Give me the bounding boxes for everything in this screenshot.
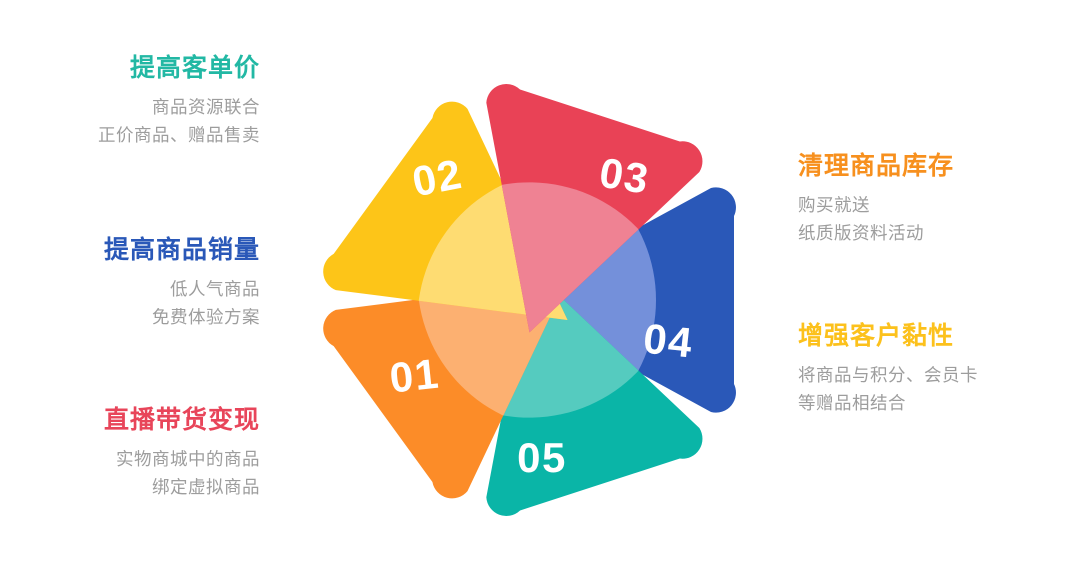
block-title-01: 提高商品销量 bbox=[0, 236, 260, 266]
block-line1-01: 低人气商品 bbox=[0, 275, 260, 303]
petal-number-05: 05 bbox=[517, 434, 567, 481]
petal-number-04: 04 bbox=[641, 315, 695, 367]
block-title-02: 提高客单价 bbox=[0, 54, 260, 84]
block-line1-03: 购买就送 bbox=[798, 191, 1058, 219]
block-title-04: 增强客户黏性 bbox=[798, 322, 1058, 352]
text-block-increase-order-value: 提高客单价 商品资源联合 正价商品、赠品售卖 bbox=[0, 54, 260, 149]
text-block-clear-inventory: 清理商品库存 购买就送 纸质版资料活动 bbox=[798, 152, 1058, 247]
text-block-increase-sales: 提高商品销量 低人气商品 免费体验方案 bbox=[0, 236, 260, 331]
pinwheel-diagram: 01 02 03 04 05 bbox=[276, 24, 804, 542]
block-line2-05: 绑定虚拟商品 bbox=[0, 473, 260, 501]
block-line2-04: 等赠品相结合 bbox=[798, 389, 1058, 417]
petal-number-03: 03 bbox=[596, 149, 652, 203]
block-line2-02: 正价商品、赠品售卖 bbox=[0, 121, 260, 149]
block-line2-01: 免费体验方案 bbox=[0, 303, 260, 331]
block-line1-02: 商品资源联合 bbox=[0, 93, 260, 121]
block-line1-05: 实物商城中的商品 bbox=[0, 445, 260, 473]
block-line1-04: 将商品与积分、会员卡 bbox=[798, 361, 1058, 389]
block-title-05: 直播带货变现 bbox=[0, 406, 260, 436]
block-line2-03: 纸质版资料活动 bbox=[798, 219, 1058, 247]
petal-number-02: 02 bbox=[408, 150, 466, 206]
text-block-customer-stickiness: 增强客户黏性 将商品与积分、会员卡 等赠品相结合 bbox=[798, 322, 1058, 417]
infographic-canvas: 提高客单价 商品资源联合 正价商品、赠品售卖 提高商品销量 低人气商品 免费体验… bbox=[0, 0, 1080, 566]
petal-number-01: 01 bbox=[387, 350, 441, 402]
text-block-livestream-monetization: 直播带货变现 实物商城中的商品 绑定虚拟商品 bbox=[0, 406, 260, 501]
block-title-03: 清理商品库存 bbox=[798, 152, 1058, 182]
